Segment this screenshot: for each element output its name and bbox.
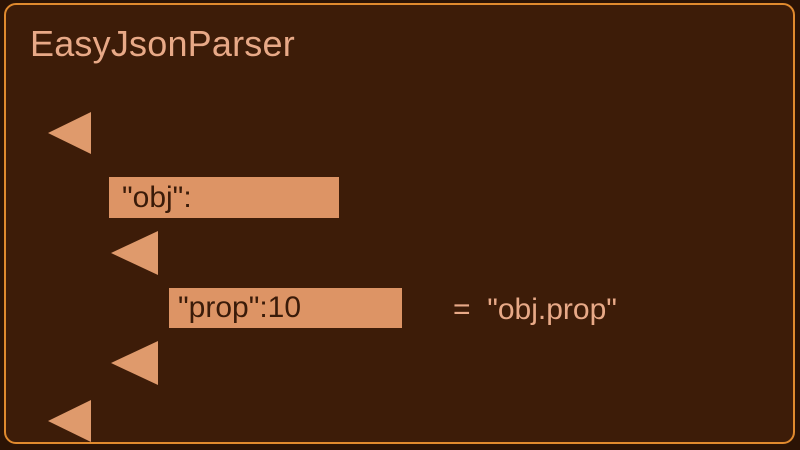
triangle-left-icon-root-open[interactable] <box>48 112 91 154</box>
json-key-prop-chip[interactable]: "prop":10 <box>169 288 402 328</box>
json-key-obj-chip[interactable]: "obj": <box>109 177 339 218</box>
parser-panel: EasyJsonParser "obj": "prop":10 = "obj.p… <box>4 3 795 444</box>
json-key-obj-label: "obj": <box>122 181 192 215</box>
triangle-left-icon-obj-open[interactable] <box>111 231 158 275</box>
page-title: EasyJsonParser <box>30 22 295 66</box>
json-key-prop-label: "prop":10 <box>178 291 301 325</box>
triangle-left-icon-obj-close[interactable] <box>111 341 158 385</box>
app-screen: EasyJsonParser "obj": "prop":10 = "obj.p… <box>0 0 800 450</box>
json-path-annotation: = "obj.prop" <box>453 293 617 327</box>
triangle-left-icon-root-close[interactable] <box>48 400 91 442</box>
